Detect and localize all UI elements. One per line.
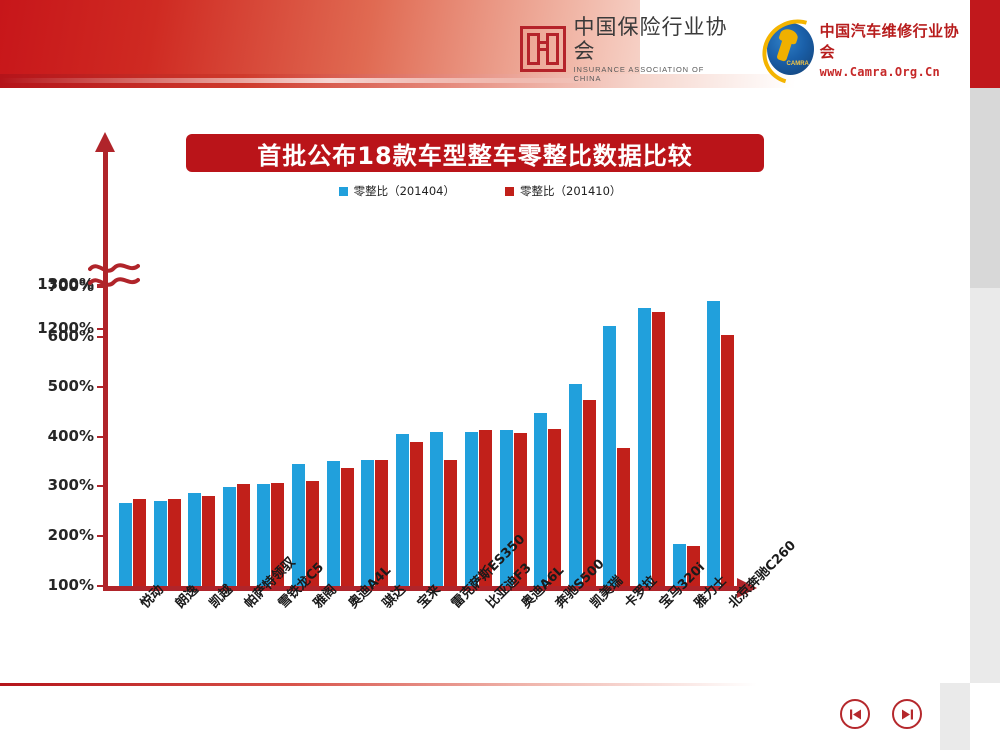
camra-name-cn: 中国汽车维修行业协会 (820, 20, 960, 62)
footer-divider (0, 683, 970, 686)
slide-navigation (840, 699, 922, 729)
logo-insurance-association-of-china: 中国保险行业协会 INSURANCE ASSOCIATION OF CHINA (520, 15, 733, 83)
skip-forward-icon (901, 708, 914, 721)
right-rail-grey-upper (970, 88, 1000, 288)
bar-1-7 (327, 461, 340, 586)
bar-2-7 (341, 468, 354, 586)
camra-abbreviation: CAMRA (787, 61, 809, 67)
bar-2-16 (652, 312, 665, 586)
next-slide-button[interactable] (892, 699, 922, 729)
right-rail-grey-lower (970, 288, 1000, 683)
insurance-association-seal-icon (520, 26, 562, 72)
bar-1-1 (119, 503, 132, 586)
bar-2-9 (410, 442, 423, 586)
bar-2-3 (202, 496, 215, 586)
bar-1-16 (638, 308, 651, 586)
logo-group: 中国保险行业协会 INSURANCE ASSOCIATION OF CHINA … (520, 18, 960, 80)
bar-1-4 (223, 487, 236, 586)
bar-2-2 (168, 499, 181, 586)
skip-back-icon (849, 708, 862, 721)
bar-1-14 (569, 384, 582, 586)
slide-body: 首批公布18款车型整车零整比数据比较 零整比（201404）零整比（201410… (0, 88, 970, 683)
bar-2-15 (617, 448, 630, 586)
bar-1-15 (603, 326, 616, 586)
bar-1-2 (154, 501, 167, 586)
insurance-association-name-cn: 中国保险行业协会 (574, 15, 733, 63)
right-rail-red (970, 0, 1000, 88)
banner-swoosh-highlight (0, 78, 601, 83)
bar-2-10 (444, 460, 457, 586)
footer-right-rail (940, 683, 970, 750)
bar-2-4 (237, 484, 250, 586)
chart-plot-area: 100%200%300%400%500%600%700%1200%1300% 悦… (0, 88, 970, 683)
logo-camra: CAMRA 中国汽车维修行业协会 www.Camra.Org.Cn (767, 20, 960, 79)
previous-slide-button[interactable] (840, 699, 870, 729)
camra-website-url: www.Camra.Org.Cn (820, 65, 960, 79)
bar-1-9 (396, 434, 409, 586)
insurance-association-name-en: INSURANCE ASSOCIATION OF CHINA (574, 65, 733, 83)
insurance-association-wordmark: 中国保险行业协会 INSURANCE ASSOCIATION OF CHINA (574, 15, 733, 83)
bar-1-11 (465, 432, 478, 586)
bar-1-10 (430, 432, 443, 586)
camra-wordmark: 中国汽车维修行业协会 www.Camra.Org.Cn (820, 20, 960, 79)
bar-2-1 (133, 499, 146, 586)
camra-globe-icon: CAMRA (767, 23, 814, 75)
bar-1-18 (707, 301, 720, 586)
slide-footer (0, 683, 970, 750)
bar-2-18 (721, 335, 734, 586)
bar-1-3 (188, 493, 201, 586)
bar-1-13 (534, 413, 547, 586)
